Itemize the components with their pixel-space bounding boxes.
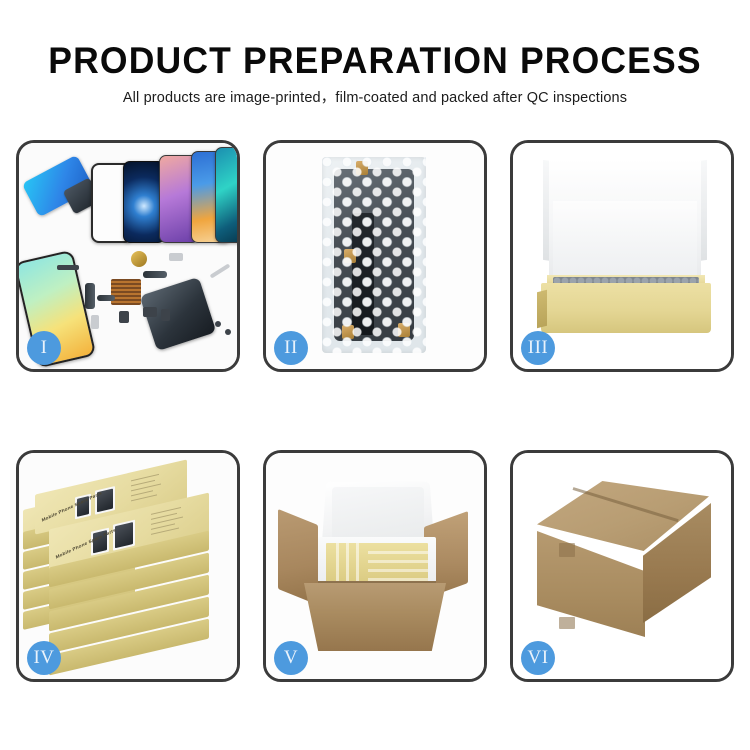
bubble-texture-front xyxy=(322,157,426,353)
part-connector-2 xyxy=(143,307,157,317)
process-step-panel-6[interactable]: VI xyxy=(510,450,734,682)
step-badge-1: I xyxy=(27,331,61,365)
photo-sealed-shipping-carton: VI xyxy=(513,453,731,679)
part-sim-tray xyxy=(91,315,99,329)
part-bracket-1 xyxy=(57,265,79,270)
carton-body xyxy=(304,583,446,651)
box-base-yellow xyxy=(541,283,711,333)
photo-bubble-wrapped-screen: II xyxy=(266,143,484,369)
part-pcb-board xyxy=(111,279,141,305)
step-badge-2: II xyxy=(274,331,308,365)
part-button-set xyxy=(161,309,170,321)
part-screw-2 xyxy=(225,329,231,335)
part-speaker-coil xyxy=(131,251,147,267)
screen-teal-wave xyxy=(215,147,237,243)
part-screwdriver xyxy=(210,263,231,278)
page-title: PRODUCT PREPARATION PROCESS xyxy=(15,40,735,82)
process-panel-grid: I II I xyxy=(0,135,750,695)
step-badge-6: VI xyxy=(521,641,555,675)
box-label-text-top: Mobile Phone Spare Parts xyxy=(41,490,102,522)
step-badge-4: IV xyxy=(27,641,61,675)
photo-stacked-retail-boxes: Mobile Phone Spare Parts Mobile Phone Sp… xyxy=(19,453,237,679)
bubble-wrap-bag xyxy=(322,157,426,353)
box-base-flap-left xyxy=(537,290,547,328)
photo-carton-with-foam-box: V xyxy=(266,453,484,679)
part-connector-1 xyxy=(169,253,183,261)
page-subtitle: All products are image-printed，film-coat… xyxy=(0,88,750,108)
step-badge-5: V xyxy=(274,641,308,675)
process-step-panel-3[interactable]: III xyxy=(510,140,734,372)
page-header: PRODUCT PREPARATION PROCESS All products… xyxy=(0,0,750,130)
photo-phone-screens-and-parts: I xyxy=(19,143,237,369)
photo-open-yellow-box: III xyxy=(513,143,731,369)
foam-sheet xyxy=(553,201,697,283)
process-step-panel-2[interactable]: II xyxy=(263,140,487,372)
carton-tape-upper xyxy=(559,543,575,557)
process-step-panel-4[interactable]: Mobile Phone Spare Parts Mobile Phone Sp… xyxy=(16,450,240,682)
part-flex-cable-1 xyxy=(85,283,95,309)
process-step-panel-1[interactable]: I xyxy=(16,140,240,372)
box-window-second-2 xyxy=(113,520,135,551)
process-step-panel-5[interactable]: V xyxy=(263,450,487,682)
carton-tape-lower xyxy=(559,617,575,629)
step-badge-3: III xyxy=(521,331,555,365)
part-screw-1 xyxy=(215,321,221,327)
box-window-top-2 xyxy=(95,486,115,515)
part-connector-3 xyxy=(119,311,129,323)
part-flex-cable-2 xyxy=(97,295,115,301)
foam-lid-inner xyxy=(332,487,424,541)
part-flex-cable-3 xyxy=(143,271,167,278)
